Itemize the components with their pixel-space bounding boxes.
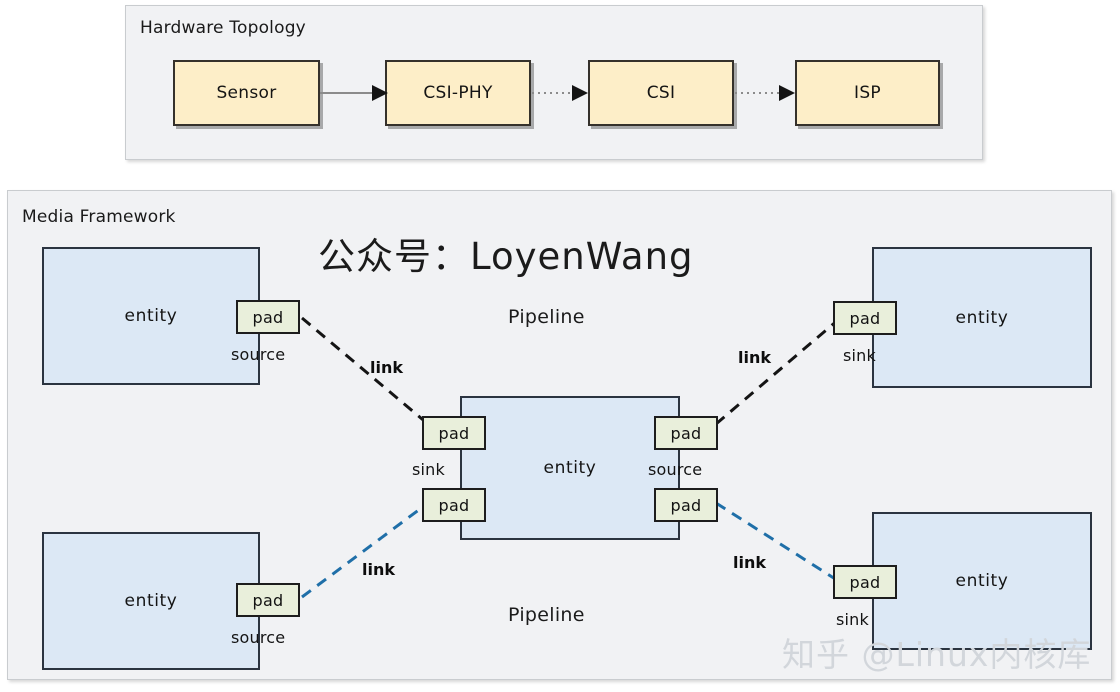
entity-center[interactable]: entity — [460, 396, 680, 540]
hw-node-csi[interactable]: CSI — [588, 60, 734, 126]
pad-center-sink-upper[interactable]: pad — [422, 416, 486, 450]
pad-label-center-sink: sink — [412, 460, 445, 479]
entity-bottom-left[interactable]: entity — [42, 532, 260, 670]
watermark-text: 知乎 @Linux内核库 — [782, 628, 1091, 676]
pad-bottom-right-sink[interactable]: pad — [833, 565, 897, 599]
pad-top-right-sink[interactable]: pad — [833, 301, 897, 335]
pipeline-label-top: Pipeline — [508, 306, 585, 328]
pad-top-left-source[interactable]: pad — [236, 300, 300, 334]
pad-label-top-right-sink: sink — [843, 346, 876, 365]
pipeline-label-bottom: Pipeline — [508, 604, 585, 626]
link-label-top-left: link — [370, 358, 403, 377]
hw-node-sensor[interactable]: Sensor — [173, 60, 320, 126]
pad-label-bottom-left-source: source — [231, 628, 285, 647]
pad-label-center-source: source — [648, 460, 702, 479]
pad-center-source-lower[interactable]: pad — [654, 488, 718, 522]
pad-label-bottom-right-sink: sink — [836, 610, 869, 629]
diagram-canvas: Hardware Topology Sensor CSI-PHY CSI ISP… — [0, 0, 1120, 692]
link-label-top-right: link — [738, 348, 771, 367]
entity-top-left[interactable]: entity — [42, 247, 260, 385]
hardware-topology-title: Hardware Topology — [140, 18, 306, 38]
pad-center-source-upper[interactable]: pad — [654, 416, 718, 450]
brand-title: 公众号：LoyenWang — [318, 226, 694, 280]
pad-center-sink-lower[interactable]: pad — [422, 488, 486, 522]
hw-node-isp[interactable]: ISP — [795, 60, 940, 126]
link-label-bottom-right: link — [733, 553, 766, 572]
pad-label-top-left-source: source — [231, 345, 285, 364]
entity-top-right[interactable]: entity — [872, 247, 1092, 388]
pad-bottom-left-source[interactable]: pad — [236, 583, 300, 617]
hw-node-csi-phy[interactable]: CSI-PHY — [385, 60, 531, 126]
media-framework-title: Media Framework — [22, 207, 176, 227]
link-label-bottom-left: link — [362, 560, 395, 579]
